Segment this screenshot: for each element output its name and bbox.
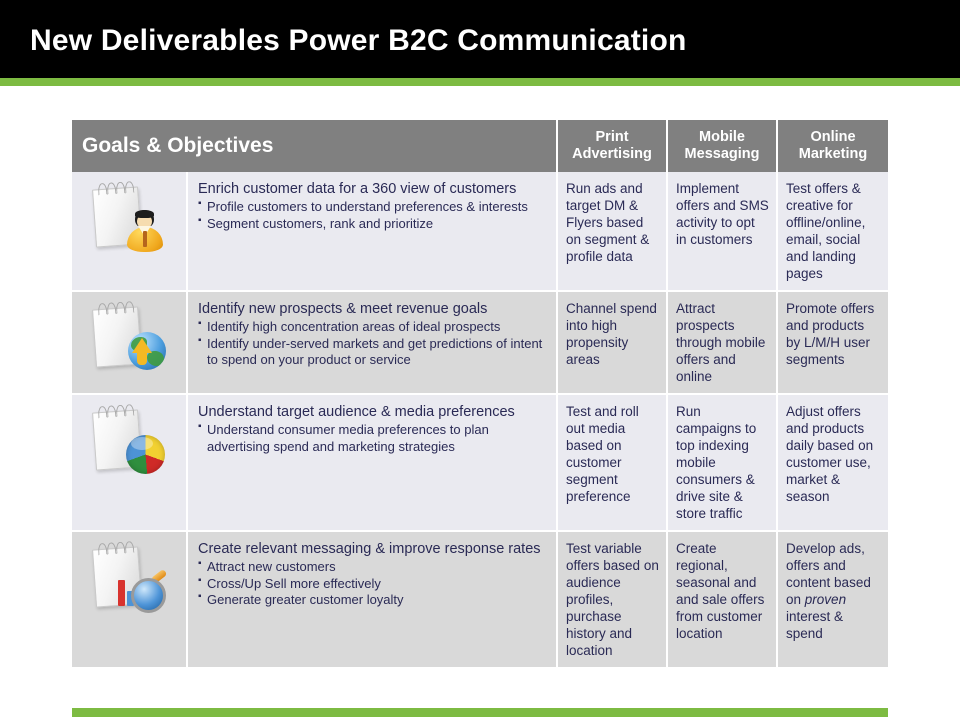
cell-mobile-messaging: Attract prospects through mobile offers … [667,291,777,394]
goal-bullet: Understand consumer media preferences to… [198,422,548,455]
column-header-online-line2: Marketing [781,146,885,163]
table-header-row: Goals & Objectives Print Advertising Mob… [72,120,888,172]
table-row: Create relevant messaging & improve resp… [72,531,888,668]
goal-bullet: Segment customers, rank and prioritize [198,216,548,233]
cell-mobile-messaging: Implement offers and SMS activity to opt… [667,172,777,291]
row-icon-cell [72,531,187,668]
goal-bullet-list: Profile customers to understand preferen… [198,199,548,232]
magnifier-icon [131,578,166,613]
column-header-online-marketing: Online Marketing [777,120,888,172]
column-header-print-advertising: Print Advertising [557,120,667,172]
goal-bullet: Cross/Up Sell more effectively [198,576,548,593]
goal-title: Enrich customer data for a 360 view of c… [198,180,548,198]
online-text-emphasis: proven [805,592,846,607]
notepad-bar-chart-magnifier-icon [88,540,170,614]
notepad-pie-chart-icon [88,403,170,477]
cell-mobile-messaging: Create regional, seasonal and and sale o… [667,531,777,668]
goal-bullet: Profile customers to understand preferen… [198,199,548,216]
goal-bullet-list: Identify high concentration areas of ide… [198,319,548,369]
column-header-goals: Goals & Objectives [72,120,557,172]
deliverables-table: Goals & Objectives Print Advertising Mob… [72,120,888,669]
goal-bullet: Identify under-served markets and get pr… [198,336,548,369]
slide-title-bar: New Deliverables Power B2C Communication [0,0,960,78]
cell-mobile-messaging: Run campaigns to top indexing mobile con… [667,394,777,531]
goal-bullet: Identify high concentration areas of ide… [198,319,548,336]
bottom-accent-rule [72,708,888,717]
row-goal-cell: Identify new prospects & meet revenue go… [187,291,557,394]
notepad-globe-arrow-icon [88,300,170,374]
person-badge-icon [124,210,166,252]
column-header-print-line2: Advertising [561,146,663,163]
cell-print-advertising: Run ads and target DM & Flyers based on … [557,172,667,291]
row-icon-cell [72,394,187,531]
table-row: Understand target audience & media prefe… [72,394,888,531]
row-goal-cell: Understand target audience & media prefe… [187,394,557,531]
row-goal-cell: Create relevant messaging & improve resp… [187,531,557,668]
cell-print-advertising: Test and roll out media based on custome… [557,394,667,531]
column-header-mobile-messaging: Mobile Messaging [667,120,777,172]
column-header-online-line1: Online [781,129,885,146]
table-row: Enrich customer data for a 360 view of c… [72,172,888,291]
title-accent-rule [0,78,960,86]
column-header-mobile-line1: Mobile [671,129,773,146]
table-row: Identify new prospects & meet revenue go… [72,291,888,394]
cell-online-marketing: Develop ads, offers and content based on… [777,531,888,668]
goal-bullet: Attract new customers [198,559,548,576]
notepad-person-icon [88,180,170,254]
cell-online-marketing: Test offers & creative for offline/onlin… [777,172,888,291]
pie-chart-badge-icon [124,433,166,475]
cell-print-advertising: Test variable offers based on audience p… [557,531,667,668]
deliverables-table-wrapper: Goals & Objectives Print Advertising Mob… [72,120,888,669]
goal-title: Create relevant messaging & improve resp… [198,540,548,558]
goal-bullet-list: Understand consumer media preferences to… [198,422,548,455]
cell-online-marketing: Promote offers and products by L/M/H use… [777,291,888,394]
goal-title: Understand target audience & media prefe… [198,403,548,421]
row-icon-cell [72,172,187,291]
column-header-mobile-line2: Messaging [671,146,773,163]
online-text-post: interest & spend [786,609,843,641]
page-title: New Deliverables Power B2C Communication [30,24,687,58]
row-icon-cell [72,291,187,394]
cell-online-marketing: Adjust offers and products daily based o… [777,394,888,531]
goal-bullet: Generate greater customer loyalty [198,592,548,609]
row-goal-cell: Enrich customer data for a 360 view of c… [187,172,557,291]
goal-bullet-list: Attract new customers Cross/Up Sell more… [198,559,548,609]
goal-title: Identify new prospects & meet revenue go… [198,300,548,318]
cell-print-advertising: Channel spend into high propensity areas [557,291,667,394]
bar-chart-magnifier-badge-icon [124,570,166,612]
globe-arrow-badge-icon [124,330,166,372]
column-header-print-line1: Print [561,129,663,146]
